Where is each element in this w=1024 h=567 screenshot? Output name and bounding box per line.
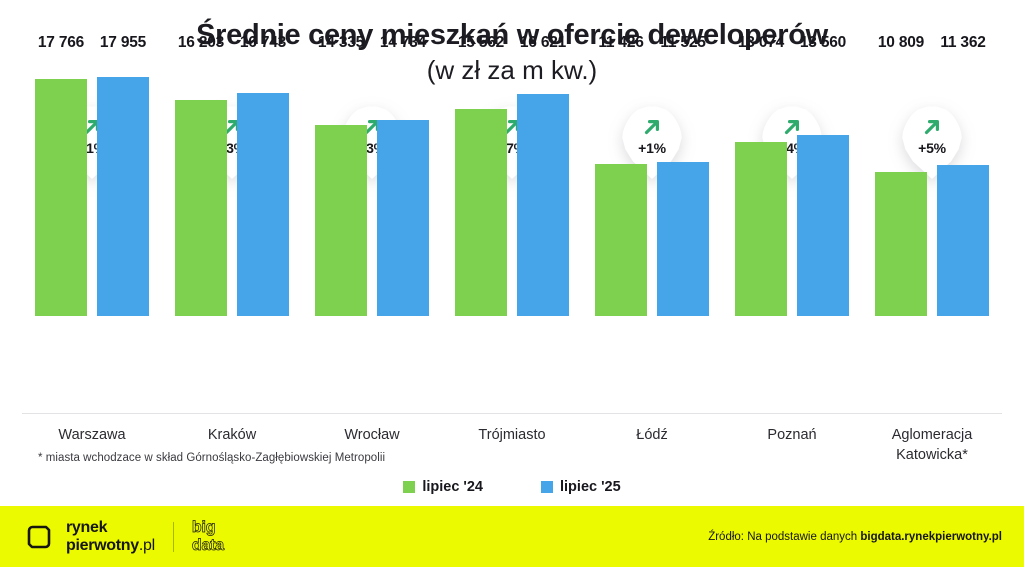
bar[interactable] <box>315 125 367 316</box>
source-prefix: Źródło: Na podstawie danych <box>708 531 860 543</box>
bar-pair: 11 42611 525 <box>582 56 722 316</box>
bar-value-label: 11 426 <box>598 34 643 52</box>
legend-item[interactable]: lipiec '24 <box>403 479 483 495</box>
category-label: Trójmiasto <box>437 426 587 446</box>
bar[interactable] <box>35 79 87 316</box>
footer-bar: rynek pierwotny.pl big data Źródło: Na p… <box>0 506 1024 567</box>
category-label: Warszawa <box>17 426 167 446</box>
bar-value-label: 14 335 <box>318 34 364 52</box>
bar-column[interactable]: 16 743 <box>237 56 289 316</box>
bar[interactable] <box>97 77 149 316</box>
brand-line2: pierwotny <box>66 537 139 554</box>
legend-swatch <box>541 481 553 493</box>
bar-column[interactable]: 17 766 <box>35 56 87 316</box>
category-label-line: Aglomeracja <box>892 427 973 443</box>
category-label-line: Warszawa <box>58 427 125 443</box>
bar-column[interactable]: 11 426 <box>595 56 647 316</box>
bar-pair: 17 76617 955 <box>22 56 162 316</box>
infographic-chart: Średnie ceny mieszkań w ofercie dewelope… <box>0 0 1024 567</box>
bar-group: +7%15 56216 621Trójmiasto <box>442 0 582 470</box>
bar-value-label: 16 203 <box>178 34 224 52</box>
bar[interactable] <box>937 165 989 316</box>
bar-pair: 10 80911 362 <box>862 56 1002 316</box>
category-label-line: Trójmiasto <box>478 427 545 443</box>
bar-column[interactable]: 14 335 <box>315 56 367 316</box>
bar-column[interactable]: 13 074 <box>735 56 787 316</box>
bar-value-label: 16 743 <box>240 34 286 52</box>
bar[interactable] <box>657 162 709 316</box>
bar-value-label: 13 560 <box>800 34 846 52</box>
source-link[interactable]: bigdata.rynekpierwotny.pl <box>860 531 1002 543</box>
bar-value-label: 16 621 <box>520 34 566 52</box>
legend-swatch <box>403 481 415 493</box>
bar-value-label: 14 734 <box>380 34 426 52</box>
bigdata-wordmark: big data <box>192 519 224 555</box>
category-label: AglomeracjaKatowicka* <box>857 426 1007 465</box>
bar-value-label: 13 074 <box>738 34 784 52</box>
category-label: Wrocław <box>297 426 447 446</box>
category-label-line: Kraków <box>208 427 256 443</box>
bigdata-line2: data <box>192 537 224 554</box>
bar[interactable] <box>735 142 787 316</box>
bar-column[interactable]: 10 809 <box>875 56 927 316</box>
category-label: Łódź <box>577 426 727 446</box>
legend-label: lipiec '25 <box>560 479 621 495</box>
bar-group: +1%11 42611 525Łódź <box>582 0 722 470</box>
bar[interactable] <box>455 109 507 316</box>
rynek-pierwotny-logo-icon <box>26 524 52 550</box>
brand-tld: .pl <box>139 537 155 554</box>
bar-value-label: 11 362 <box>940 34 985 52</box>
legend-item[interactable]: lipiec '25 <box>541 479 621 495</box>
bar[interactable] <box>875 172 927 316</box>
bar-pair: 16 20316 743 <box>162 56 302 316</box>
bar-pair: 13 07413 560 <box>722 56 862 316</box>
bar-column[interactable]: 11 362 <box>937 56 989 316</box>
bar-value-label: 11 525 <box>660 34 705 52</box>
bar-column[interactable]: 11 525 <box>657 56 709 316</box>
legend-label: lipiec '24 <box>422 479 483 495</box>
bigdata-line1: big <box>192 519 215 536</box>
category-label: Kraków <box>157 426 307 446</box>
brand-logo[interactable]: rynek pierwotny.pl big data <box>26 519 224 555</box>
brand-name: rynek pierwotny.pl <box>66 519 155 555</box>
bar[interactable] <box>237 93 289 316</box>
category-label-line: Łódź <box>636 427 667 443</box>
bar-group: +5%10 80911 362AglomeracjaKatowicka* <box>862 0 1002 470</box>
bar-column[interactable]: 16 621 <box>517 56 569 316</box>
category-label-line: Poznań <box>767 427 816 443</box>
bar-group: +3%16 20316 743Kraków <box>162 0 302 470</box>
bar-column[interactable]: 16 203 <box>175 56 227 316</box>
brand-divider <box>173 522 174 552</box>
bar-column[interactable]: 13 560 <box>797 56 849 316</box>
bar-value-label: 10 809 <box>878 34 924 52</box>
bar-group: +3%14 33514 734Wrocław <box>302 0 442 470</box>
bar[interactable] <box>517 94 569 316</box>
category-label-line: Katowicka* <box>896 447 968 463</box>
bar-column[interactable]: 14 734 <box>377 56 429 316</box>
bar-column[interactable]: 17 955 <box>97 56 149 316</box>
category-label-line: Wrocław <box>344 427 399 443</box>
bar[interactable] <box>175 100 227 316</box>
bar[interactable] <box>377 120 429 316</box>
bar-value-label: 15 562 <box>458 34 504 52</box>
chart-legend: lipiec '24lipiec '25 <box>0 479 1024 495</box>
bar[interactable] <box>797 135 849 316</box>
chart-footnote: * miasta wchodzace w skład Górnośląsko-Z… <box>38 452 385 464</box>
bar[interactable] <box>595 164 647 316</box>
source-note: Źródło: Na podstawie danych bigdata.ryne… <box>708 531 1002 543</box>
bar-value-label: 17 955 <box>100 34 146 52</box>
bar-group: +4%13 07413 560Poznań <box>722 0 862 470</box>
bar-value-label: 17 766 <box>38 34 84 52</box>
category-label: Poznań <box>717 426 867 446</box>
brand-line1: rynek <box>66 519 107 536</box>
bar-column[interactable]: 15 562 <box>455 56 507 316</box>
bar-group: +1%17 76617 955Warszawa <box>22 0 162 470</box>
bar-pair: 15 56216 621 <box>442 56 582 316</box>
bar-pair: 14 33514 734 <box>302 56 442 316</box>
